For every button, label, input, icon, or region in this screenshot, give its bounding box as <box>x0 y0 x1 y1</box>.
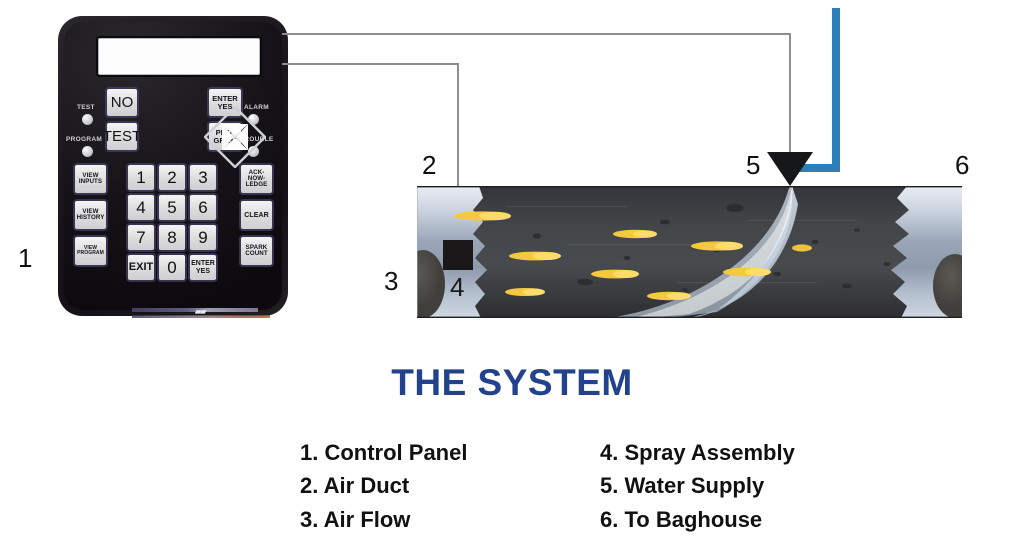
led-program <box>82 146 93 157</box>
key-num-7[interactable]: 7 <box>127 224 155 251</box>
key-clear[interactable]: CLEAR <box>240 200 273 230</box>
legend-item-4: 4. Spray Assembly <box>600 436 795 469</box>
control-panel[interactable]: TEST PROGRAM ALARM TROUBLE NO TEST ENTER… <box>58 16 288 316</box>
legend-item-3: 3. Air Flow <box>300 503 467 536</box>
key-spark-count[interactable]: SPARK COUNT <box>240 236 273 266</box>
key-num-3[interactable]: 3 <box>189 164 217 191</box>
water-nozzle-icon <box>767 152 813 186</box>
callout-4: 4 <box>450 272 464 303</box>
callout-6: 6 <box>955 150 969 181</box>
key-spark-count-line2: COUNT <box>245 251 268 257</box>
key-num-1[interactable]: 1 <box>127 164 155 191</box>
legend-column-left: 1. Control Panel 2. Air Duct 3. Air Flow <box>300 436 467 536</box>
key-num-8[interactable]: 8 <box>158 224 186 251</box>
legend-column-right: 4. Spray Assembly 5. Water Supply 6. To … <box>600 436 795 536</box>
key-view-history-line2: HISTORY <box>77 215 105 221</box>
key-acknowledge[interactable]: ACK- NOW- LEDGE <box>240 164 273 194</box>
leader-line-spray-horizontal <box>282 63 459 65</box>
key-enter-yes-pad[interactable]: ENTER YES <box>189 254 217 281</box>
legend-item-5: 5. Water Supply <box>600 469 795 502</box>
branding-logo-icon: ▰▰ <box>195 307 205 316</box>
duct-graphic <box>417 186 962 318</box>
legend-item-2: 2. Air Duct <box>300 469 467 502</box>
key-enter-yes-pad-line2: YES <box>196 268 210 275</box>
control-panel-face: TEST PROGRAM ALARM TROUBLE NO TEST ENTER… <box>64 22 282 310</box>
led-test <box>82 114 93 125</box>
key-enter-yes-pad-line1: ENTER <box>191 260 215 267</box>
leader-line-water-horizontal <box>282 33 791 35</box>
dpad-arrows-icon <box>204 106 266 168</box>
callout-2: 2 <box>422 150 436 181</box>
panel-branding: ▰▰ <box>132 308 272 322</box>
key-num-4[interactable]: 4 <box>127 194 155 221</box>
key-view-program-line2: PROGRAM <box>77 251 104 256</box>
lcd-display <box>98 38 260 75</box>
key-view-history[interactable]: VIEW HISTORY <box>74 200 107 230</box>
key-view-inputs-line2: INPUTS <box>79 179 102 185</box>
spray-assembly-box <box>443 240 473 270</box>
page-title: THE SYSTEM <box>0 362 1024 404</box>
key-num-2[interactable]: 2 <box>158 164 186 191</box>
callout-3: 3 <box>384 266 398 297</box>
legend-item-1: 1. Control Panel <box>300 436 467 469</box>
callout-1: 1 <box>18 243 32 274</box>
led-label-test: TEST <box>77 104 95 111</box>
legend-item-6: 6. To Baghouse <box>600 503 795 536</box>
water-pipe-vertical <box>832 8 840 172</box>
key-acknowledge-line3: LEDGE <box>246 182 268 188</box>
key-num-6[interactable]: 6 <box>189 194 217 221</box>
air-duct <box>417 186 962 318</box>
key-no[interactable]: NO <box>106 88 138 117</box>
key-exit[interactable]: EXIT <box>127 254 155 281</box>
led-label-program: PROGRAM <box>66 136 102 143</box>
key-test[interactable]: TEST <box>106 122 138 151</box>
key-view-program[interactable]: VIEW PROGRAM <box>74 236 107 266</box>
key-num-0[interactable]: 0 <box>158 254 186 281</box>
key-num-5[interactable]: 5 <box>158 194 186 221</box>
diagram-canvas: TEST PROGRAM ALARM TROUBLE NO TEST ENTER… <box>0 0 1024 556</box>
leader-line-water-vertical <box>789 33 791 168</box>
navigation-dpad[interactable] <box>204 106 266 168</box>
key-num-9[interactable]: 9 <box>189 224 217 251</box>
key-view-inputs[interactable]: VIEW INPUTS <box>74 164 107 194</box>
callout-5: 5 <box>746 150 760 181</box>
